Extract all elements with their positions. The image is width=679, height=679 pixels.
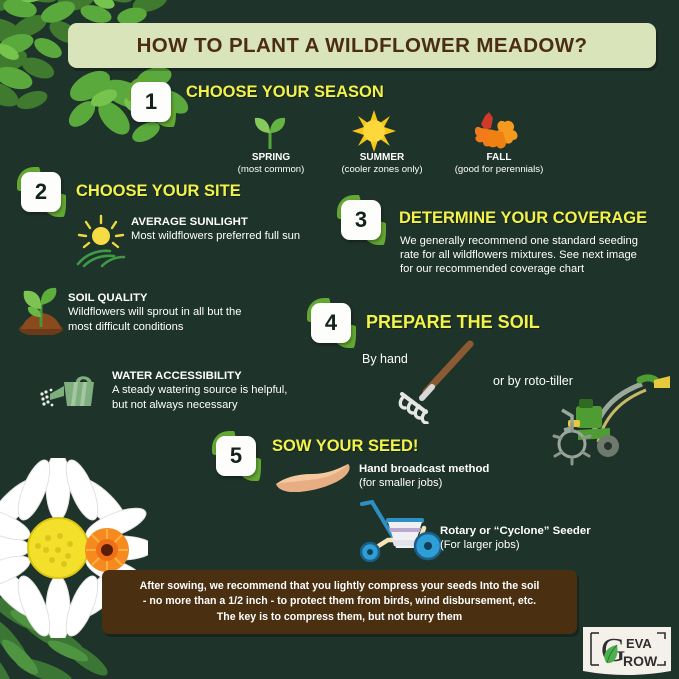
sprout-icon [249, 111, 291, 151]
sow-method-spreader: Rotary or “Cyclone” Seeder (For larger j… [440, 524, 650, 553]
site-item-title: SOIL QUALITY [68, 292, 148, 304]
season-note: (most common) [238, 164, 305, 175]
sow-method-note: (For larger jobs) [440, 539, 520, 551]
rake-icon [392, 338, 482, 424]
site-item-water: WATER ACCESSIBILITY A steady watering so… [112, 369, 294, 412]
infographic-poster: HOW TO PLANT A WILDFLOWER MEADOW? 1 CHOO… [0, 0, 679, 679]
season-note: (cooler zones only) [341, 164, 422, 175]
footer-tip-text: After sowing, we recommend that you ligh… [126, 579, 554, 624]
step-badge-1: 1 [131, 82, 171, 122]
geva-grow-logo: G EVA ROW [579, 617, 675, 677]
site-item-title: AVERAGE SUNLIGHT [131, 216, 248, 228]
step-badge-card: 1 [131, 82, 171, 122]
rotary-spreader-icon [352, 496, 448, 562]
watering-can-icon [38, 370, 100, 414]
step-badge-5: 5 [216, 436, 256, 476]
maple-leaves-icon [471, 110, 519, 152]
step-heading-5: SOW YOUR SEED! [272, 437, 418, 456]
step-badge-4: 4 [311, 303, 351, 343]
coverage-body: We generally recommend one standard seed… [400, 234, 652, 277]
marigold-flower-decoration [84, 527, 130, 573]
step-badge-card: 3 [341, 200, 381, 240]
step-number: 5 [230, 445, 242, 467]
footer-tip-box: After sowing, we recommend that you ligh… [102, 570, 577, 634]
sow-method-title: Rotary or “Cyclone” Seeder [440, 525, 591, 537]
sow-method-title: Hand broadcast method [359, 463, 489, 475]
step-badge-3: 3 [341, 200, 381, 240]
step-number: 4 [325, 312, 337, 334]
site-item-body: A steady watering source is helpful, but… [112, 384, 287, 410]
step-number: 3 [355, 209, 367, 231]
step-badge-card: 5 [216, 436, 256, 476]
step-heading-1: CHOOSE YOUR SEASON [186, 83, 384, 102]
step-heading-2: CHOOSE YOUR SITE [76, 182, 241, 201]
footer-line-1: After sowing, we recommend that you ligh… [140, 580, 540, 592]
sun-over-field-icon [72, 214, 130, 268]
logo-word-1: EVA [626, 636, 652, 651]
page-title: HOW TO PLANT A WILDFLOWER MEADOW? [137, 34, 588, 58]
open-hand-icon [274, 462, 354, 496]
step-heading-3: DETERMINE YOUR COVERAGE [399, 209, 647, 228]
step-number: 1 [145, 91, 157, 113]
step-number: 2 [35, 181, 47, 203]
poster-title-banner: HOW TO PLANT A WILDFLOWER MEADOW? [68, 23, 656, 68]
season-caption-spring: SPRING (most common) [229, 152, 313, 176]
season-name: FALL [487, 152, 512, 163]
site-item-body: Most wildflowers preferred full sun [131, 230, 300, 242]
footer-line-3: The key is to compress them, but not bur… [217, 611, 462, 623]
site-item-sunlight: AVERAGE SUNLIGHT Most wildflowers prefer… [131, 215, 311, 244]
season-caption-fall: FALL (good for perennials) [444, 152, 554, 176]
step-badge-2: 2 [21, 172, 61, 212]
season-name: SPRING [252, 152, 290, 163]
season-caption-summer: SUMMER (cooler zones only) [330, 152, 434, 176]
sow-method-note: (for smaller jobs) [359, 477, 442, 489]
sun-icon [352, 110, 396, 152]
roto-tiller-icon [548, 366, 672, 466]
season-name: SUMMER [360, 152, 404, 163]
site-item-body: Wildflowers will sprout in all but the m… [68, 306, 241, 332]
seedling-in-soil-icon [14, 283, 68, 335]
site-item-soil: SOIL QUALITY Wildflowers will sprout in … [68, 291, 268, 334]
logo-word-2: ROW [623, 653, 658, 669]
sow-method-hand: Hand broadcast method (for smaller jobs) [359, 462, 539, 491]
step-badge-card: 2 [21, 172, 61, 212]
footer-line-2: - no more than a 1/2 inch - to protect t… [143, 595, 536, 607]
site-item-title: WATER ACCESSIBILITY [112, 370, 242, 382]
step-heading-4: PREPARE THE SOIL [366, 312, 540, 333]
step-badge-card: 4 [311, 303, 351, 343]
season-note: (good for perennials) [455, 164, 544, 175]
